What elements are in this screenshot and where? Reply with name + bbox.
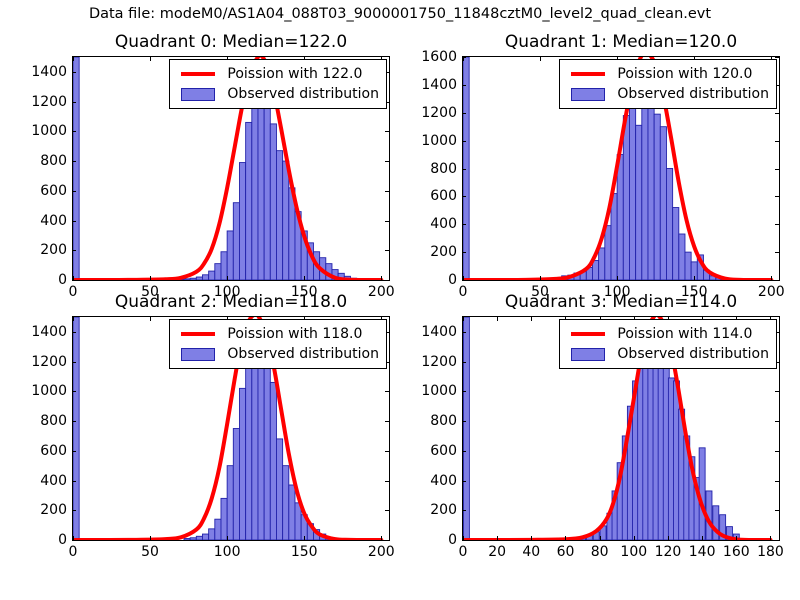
y-tick-mark [72,72,76,73]
legend-patch-swatch [567,348,609,361]
y-tick-mark-right [385,421,389,422]
legend-label-observed: Observed distribution [227,86,379,102]
y-tick-mark-right [775,451,779,452]
x-tick-mark-top [531,317,532,321]
y-tick-mark-right [775,141,779,142]
histogram-bar [623,116,629,280]
y-tick-label: 800 [400,161,457,177]
y-tick-mark-right [385,451,389,452]
y-tick-mark-right [775,391,779,392]
histogram-bar [202,534,208,540]
x-tick-label: 150 [291,544,318,560]
histogram-bar [617,155,623,280]
x-tick-label: 0 [459,544,468,560]
y-tick-mark [462,332,466,333]
y-tick-mark [462,362,466,363]
y-tick-label: 1200 [0,354,67,370]
y-tick-mark-right [775,57,779,58]
legend-line-swatch [177,72,219,76]
x-tick-mark-top [150,57,151,61]
histogram-bar [264,356,270,540]
legend[interactable]: Poission with 114.0Observed distribution [559,319,777,369]
histogram-bar [252,97,258,280]
x-tick-label: 40 [522,544,540,560]
x-tick-mark [73,536,74,540]
histogram-bar [666,169,672,281]
y-tick-label: 600 [400,443,457,459]
y-tick-mark [462,169,466,170]
histogram-bar [592,260,598,280]
legend-item-observed: Observed distribution [567,84,769,104]
y-tick-mark-right [385,481,389,482]
y-tick-mark-right [775,510,779,511]
y-tick-mark [72,102,76,103]
y-tick-mark [72,280,76,281]
y-tick-mark-right [385,161,389,162]
histogram-bar [276,439,282,540]
histogram-bar [239,388,245,540]
histogram-bar [283,466,289,540]
observed-patch-icon [571,88,605,101]
y-tick-mark-right [385,221,389,222]
y-tick-mark [462,391,466,392]
y-tick-mark-right [775,169,779,170]
x-tick-label: 140 [689,544,716,560]
poisson-line-icon [571,72,605,76]
x-tick-mark [694,276,695,280]
x-tick-label: 50 [141,544,159,560]
observed-patch-icon [181,348,215,361]
y-tick-mark-right [775,224,779,225]
poisson-line-icon [181,332,215,336]
x-tick-mark-top [150,317,151,321]
x-tick-mark-top [463,57,464,61]
y-tick-mark [72,250,76,251]
x-tick-label: 60 [557,544,575,560]
x-tick-label: 200 [368,544,395,560]
y-tick-label: 1000 [0,123,67,139]
y-tick-mark [462,451,466,452]
legend-item-observed: Observed distribution [567,344,769,364]
y-tick-mark-right [775,421,779,422]
x-tick-mark [304,536,305,540]
histogram-bar [270,124,276,280]
histogram-bar [276,151,282,280]
subplot-title: Quadrant 2: Median=118.0 [72,292,390,312]
legend[interactable]: Poission with 120.0Observed distribution [559,59,777,109]
y-tick-mark [462,141,466,142]
x-tick-mark [771,276,772,280]
legend-label-poisson: Poission with 120.0 [617,66,752,82]
subplot-quadrant-0: Quadrant 0: Median=122.00200400600800100… [0,30,400,300]
y-tick-mark-right [385,250,389,251]
observed-patch-icon [571,348,605,361]
y-tick-mark [462,280,466,281]
y-tick-mark [72,451,76,452]
y-tick-label: 1000 [400,133,457,149]
y-tick-mark-right [385,191,389,192]
y-tick-mark [462,540,466,541]
y-tick-label: 400 [400,216,457,232]
x-tick-mark [497,536,498,540]
histogram-bar [685,252,691,280]
histogram-bar [252,339,258,540]
x-tick-mark [73,276,74,280]
histogram-bar [184,279,190,280]
subplot-quadrant-2: Quadrant 2: Median=118.00200400600800100… [0,290,400,560]
y-tick-mark-right [385,510,389,511]
legend-label-observed: Observed distribution [617,86,769,102]
y-tick-mark [462,421,466,422]
histogram-bar [233,203,239,280]
x-tick-mark [381,276,382,280]
y-tick-mark [72,191,76,192]
legend-patch-swatch [177,88,219,101]
legend-patch-swatch [567,88,609,101]
y-tick-mark-right [775,113,779,114]
histogram-bar [599,248,605,280]
legend-label-observed: Observed distribution [617,346,769,362]
y-tick-label: 400 [400,473,457,489]
histogram-bar [227,231,233,280]
y-tick-mark [72,131,76,132]
histogram-bar [246,366,252,540]
y-tick-mark [72,332,76,333]
y-tick-label: 600 [0,183,67,199]
histogram-bar [283,161,289,280]
y-tick-label: 400 [0,473,67,489]
legend-label-poisson: Poission with 118.0 [227,326,362,342]
y-tick-mark [72,362,76,363]
histogram-bar [239,163,245,280]
histogram-bar [73,57,79,280]
y-tick-label: 200 [400,244,457,260]
y-tick-label: 0 [0,532,67,548]
x-tick-mark [463,276,464,280]
histogram-bar [289,485,295,540]
histogram-bar [463,317,469,540]
x-tick-label: 80 [591,544,609,560]
y-tick-mark-right [775,196,779,197]
y-tick-label: 200 [0,242,67,258]
histogram-bar [196,277,202,280]
observed-patch-icon [181,88,215,101]
y-tick-label: 0 [400,272,457,288]
y-tick-label: 0 [400,532,457,548]
legend[interactable]: Poission with 122.0Observed distribution [169,59,387,109]
legend-item-poisson: Poission with 114.0 [567,324,769,344]
y-tick-label: 800 [0,153,67,169]
y-tick-label: 1400 [400,77,457,93]
x-tick-mark [381,536,382,540]
y-tick-label: 1200 [400,354,457,370]
legend-item-poisson: Poission with 118.0 [177,324,379,344]
x-tick-label: 100 [214,544,241,560]
y-tick-label: 1000 [400,383,457,399]
histogram-bar [611,194,617,280]
figure-suptitle: Data file: modeM0/AS1A04_088T03_90000017… [0,6,800,22]
histogram-bar [190,538,196,540]
histogram-bar [629,90,635,280]
x-tick-mark [736,536,737,540]
x-tick-label: 120 [655,544,682,560]
y-tick-label: 0 [0,272,67,288]
x-tick-mark [668,536,669,540]
y-tick-label: 400 [0,213,67,229]
x-tick-mark [600,536,601,540]
y-tick-mark [72,391,76,392]
y-tick-mark-right [385,280,389,281]
y-tick-mark [72,481,76,482]
poisson-line-icon [181,72,215,76]
histogram-bar [605,226,611,280]
legend[interactable]: Poission with 118.0Observed distribution [169,319,387,369]
x-tick-label: 0 [69,544,78,560]
x-tick-label: 100 [620,544,647,560]
y-tick-mark [462,510,466,511]
x-tick-mark [770,536,771,540]
x-tick-mark-top [497,317,498,321]
x-tick-mark [702,536,703,540]
legend-label-poisson: Poission with 122.0 [227,66,362,82]
y-tick-label: 800 [0,413,67,429]
x-tick-mark [617,276,618,280]
y-tick-mark-right [385,540,389,541]
subplot-title: Quadrant 3: Median=114.0 [462,292,780,312]
histogram-bar [660,127,666,280]
y-tick-label: 1000 [0,383,67,399]
x-tick-mark [227,276,228,280]
histogram-bar [209,529,215,540]
y-tick-mark [462,196,466,197]
histogram-bar [190,278,196,280]
x-tick-mark [531,536,532,540]
x-tick-label: 160 [723,544,750,560]
y-tick-mark [462,224,466,225]
legend-item-poisson: Poission with 120.0 [567,64,769,84]
subplot-quadrant-3: Quadrant 3: Median=114.00200400600800100… [400,290,800,560]
histogram-bar [209,271,215,280]
histogram-bar [270,382,276,540]
legend-patch-swatch [177,348,219,361]
y-tick-mark-right [775,540,779,541]
histogram-bar [227,466,233,540]
subplot-title: Quadrant 0: Median=122.0 [72,32,390,52]
legend-label-observed: Observed distribution [227,346,379,362]
histogram-bar [654,114,660,280]
y-tick-mark [72,161,76,162]
legend-line-swatch [567,332,609,336]
subplot-title: Quadrant 1: Median=120.0 [462,32,780,52]
poisson-line-icon [571,332,605,336]
legend-line-swatch [567,72,609,76]
x-tick-mark [634,536,635,540]
y-tick-label: 1200 [400,105,457,121]
y-tick-mark [72,221,76,222]
y-tick-label: 800 [400,413,457,429]
subplot-quadrant-1: Quadrant 1: Median=120.00200400600800100… [400,30,800,300]
legend-item-observed: Observed distribution [177,344,379,364]
histogram-bar [215,264,221,280]
histogram-bar [264,96,270,280]
y-tick-label: 1400 [0,64,67,80]
histogram-bar [184,539,190,540]
x-tick-mark-top [73,57,74,61]
x-tick-mark [227,536,228,540]
legend-item-observed: Observed distribution [177,84,379,104]
y-tick-mark-right [775,280,779,281]
histogram-bar [202,275,208,280]
x-tick-mark [540,276,541,280]
y-tick-label: 200 [0,502,67,518]
histogram-bar [233,429,239,541]
legend-line-swatch [177,332,219,336]
x-tick-mark [150,276,151,280]
x-tick-mark [304,276,305,280]
x-tick-mark [150,536,151,540]
histogram-bar [673,208,679,280]
x-tick-mark-top [463,317,464,321]
histogram-bar [679,234,685,280]
y-tick-mark [462,113,466,114]
x-tick-mark [565,536,566,540]
y-tick-label: 200 [400,502,457,518]
y-tick-mark-right [385,391,389,392]
histogram-bar [196,536,202,540]
x-tick-label: 180 [757,544,784,560]
histogram-bar [73,317,79,540]
y-tick-label: 600 [400,188,457,204]
x-tick-mark-top [73,317,74,321]
histogram-bar [713,506,719,540]
histogram-bar [636,125,642,280]
y-tick-mark [72,540,76,541]
legend-item-poisson: Poission with 122.0 [177,64,379,84]
histogram-bar [246,122,252,280]
y-tick-label: 600 [0,443,67,459]
y-tick-label: 1600 [400,49,457,65]
y-tick-mark [462,481,466,482]
histogram-bar [215,519,221,540]
y-tick-label: 1200 [0,94,67,110]
y-tick-mark [72,510,76,511]
matplotlib-figure: Data file: modeM0/AS1A04_088T03_90000017… [0,0,800,600]
y-tick-mark [72,421,76,422]
y-tick-mark [462,252,466,253]
y-tick-mark-right [385,131,389,132]
y-tick-mark-right [775,481,779,482]
y-tick-label: 1400 [400,324,457,340]
x-tick-label: 20 [488,544,506,560]
histogram-bar [221,498,227,540]
y-tick-label: 1400 [0,324,67,340]
x-tick-mark-top [540,57,541,61]
y-tick-mark [462,85,466,86]
x-tick-mark [463,536,464,540]
legend-label-poisson: Poission with 114.0 [617,326,752,342]
y-tick-mark-right [775,252,779,253]
